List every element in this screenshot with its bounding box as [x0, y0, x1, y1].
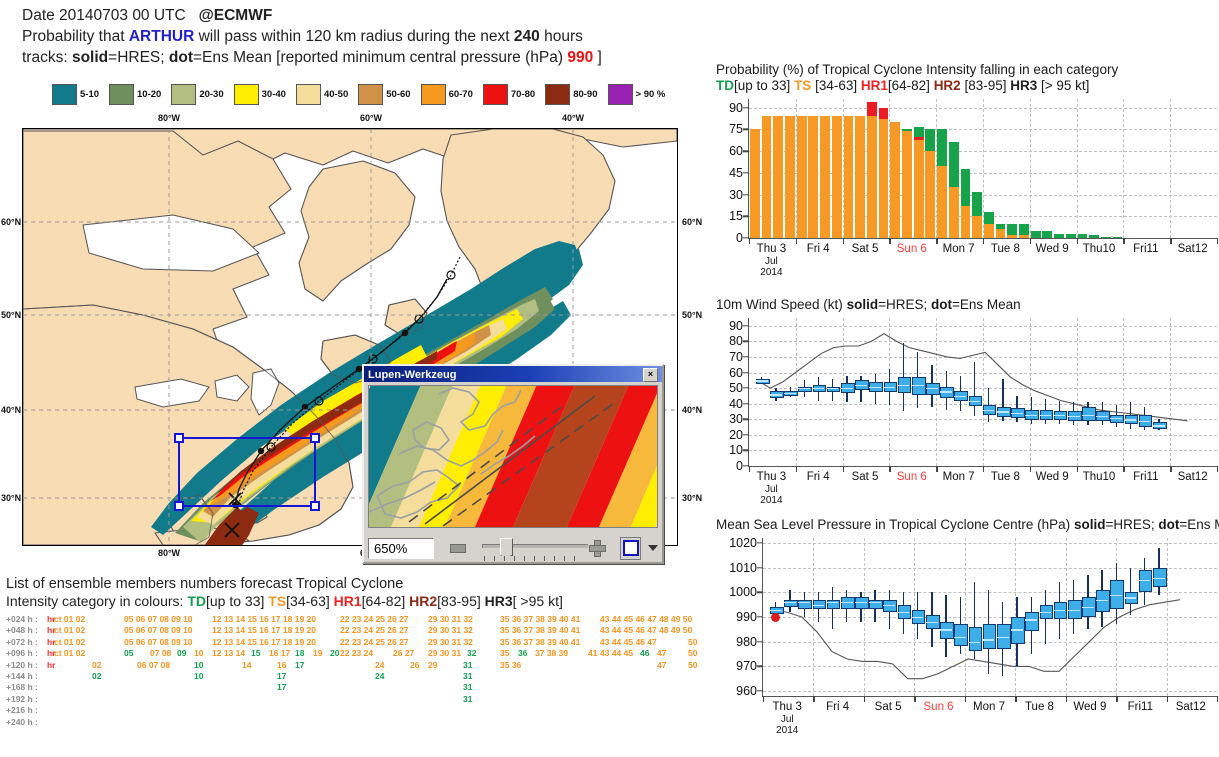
intensity-chart-title: Probability (%) of Tropical Cyclone Inte… — [716, 62, 1219, 77]
x-tick-label: Wed 9 — [1036, 243, 1069, 255]
boxplot-box — [827, 600, 841, 609]
map-lon-label-top: 60°W — [360, 113, 382, 123]
ensemble-row-label: +144 h : — [6, 671, 38, 682]
wind-title-a: 10m Wind Speed (kt) — [716, 297, 843, 312]
intensity-bar — [937, 99, 947, 238]
boxplot-median — [883, 605, 895, 606]
chart-legend-td: TD — [716, 78, 734, 93]
intensity-bar-segment-ts — [797, 116, 807, 238]
ensemble-member-numbers: 02 — [92, 671, 101, 682]
ensemble-row-label: +168 h : — [6, 682, 38, 693]
ensemble-member-numbers: 20 — [330, 648, 339, 659]
intensity-bar-segment-ts — [984, 224, 994, 238]
forecast-hours: 240 — [514, 28, 540, 45]
wind-title-solid: solid — [847, 297, 879, 312]
tracks-text-d: ] — [598, 49, 602, 66]
boxplot-median — [1096, 416, 1108, 417]
ensemble-member-numbers: 15 — [251, 648, 260, 659]
ensemble-member-numbers: ct 01 02 — [54, 637, 85, 648]
ensemble-member-numbers: 05 06 07 08 09 10 — [124, 625, 193, 636]
ensemble-row: +096 h :hrct 01 020507 08091012 13 14151… — [6, 648, 706, 659]
x-tick-label: Mon 7 — [943, 471, 975, 483]
intensity-bar-segment-ts — [773, 116, 783, 238]
intensity-bar — [797, 99, 807, 238]
intensity-bar-segment-ts — [1019, 235, 1029, 238]
boxplot-median — [1068, 416, 1080, 417]
zoom-slider-track — [482, 544, 588, 548]
colorbar-swatch — [421, 84, 446, 105]
ensemble-member-numbers: 43 44 45 46 47 — [600, 637, 657, 648]
ensemble-member-numbers: 35 36 — [500, 660, 521, 671]
mslp-chart-title: Mean Sea Level Pressure in Tropical Cycl… — [716, 517, 1219, 532]
boxplot-median — [756, 380, 768, 381]
ensemble-member-numbers: 07 08 — [150, 648, 171, 659]
ensemble-member-numbers: 26 27 — [393, 648, 414, 659]
y-tick-mark — [743, 216, 749, 217]
legend-hr1-range: [64-82] — [362, 593, 406, 609]
ensemble-member-numbers: 32 — [467, 648, 476, 659]
ensemble-row: +168 h :1731 — [6, 682, 706, 693]
map-top-axis: 80°W60°W40°W — [22, 112, 678, 128]
intensity-bar — [914, 99, 924, 238]
ensemble-member-numbers: 43 44 45 — [600, 648, 633, 659]
intensity-bar — [1007, 99, 1017, 238]
zoom-in-icon[interactable] — [589, 540, 604, 557]
ensemble-row: +120 h :hr0206 07 08101416172426293135 3… — [6, 660, 706, 671]
ensemble-member-numbers: 35 36 37 38 39 40 41 — [500, 637, 580, 648]
x-axis-year-label: 2014 — [760, 267, 782, 278]
x-tick-label: Mon 7 — [973, 701, 1005, 713]
map-lat-label-left: 50°N — [1, 310, 21, 320]
boxplot-median — [912, 617, 924, 618]
intensity-bar-segment-td — [1101, 237, 1111, 238]
boxplot-median — [1096, 600, 1108, 601]
ensemble-member-numbers: 50 — [688, 637, 697, 648]
mslp-title-solid: solid — [1074, 517, 1106, 532]
boxplot-median — [884, 387, 896, 388]
intensity-bar-segment-ts — [961, 206, 971, 238]
y-tick-mark — [743, 194, 749, 195]
boxplot-median — [813, 388, 825, 389]
intensity-bar-segment-td — [1007, 224, 1017, 236]
boxplot-median — [1025, 415, 1037, 416]
x-tick-label: Thu 3 — [773, 701, 802, 713]
ensemble-member-numbers: ct 01 02 — [54, 625, 85, 636]
ensemble-member-numbers: 29 30 31 32 — [428, 614, 473, 625]
chart-legend-hr3-range: [> 95 kt] — [1037, 78, 1089, 93]
intensity-bar-segment-ts — [925, 151, 935, 238]
ensemble-row: +048 h :hrct 01 0205 06 07 08 09 1012 13… — [6, 625, 706, 636]
x-tick-label: Tue 8 — [991, 243, 1020, 255]
intensity-bar — [890, 99, 900, 238]
ensemble-member-numbers: 41 — [588, 648, 597, 659]
ensemble-member-numbers: 47 — [657, 648, 666, 659]
ensemble-row: +240 h : — [6, 717, 706, 728]
chevron-down-icon[interactable] — [648, 545, 658, 551]
x-tick-label: Sun 6 — [924, 701, 954, 713]
header-line-tracks: tracks: solid=HRES; dot=Ens Mean [report… — [22, 47, 702, 68]
boxplot-median — [1125, 597, 1137, 598]
colorbar-swatch — [171, 84, 196, 105]
colorbar-label: > 90 % — [636, 89, 666, 100]
ensemble-member-numbers: 31 — [463, 694, 472, 705]
chart-legend-ts: TS — [794, 78, 811, 93]
intensity-bar-segment-ts — [914, 140, 924, 238]
intensity-bar — [949, 99, 959, 238]
map-lon-label-top: 80°W — [158, 113, 180, 123]
magnifier-svg — [369, 386, 658, 527]
chart-legend-td-range: [up to 33] — [734, 78, 790, 93]
ensemble-row-label: +072 h : — [6, 637, 38, 648]
ensemble-member-numbers: 05 — [124, 648, 133, 659]
header-line-probability: Probability that ARTHUR will pass within… — [22, 26, 702, 47]
y-tick-mark — [743, 172, 749, 173]
intensity-bar — [902, 99, 912, 238]
ensemble-member-numbers: 05 06 07 08 09 10 — [124, 637, 193, 648]
ensemble-row-label: +096 h : — [6, 648, 38, 659]
solid-key: solid — [72, 49, 108, 66]
ensemble-member-numbers: 31 — [463, 660, 472, 671]
intensity-bar-segment-td — [1054, 234, 1064, 238]
colorbar-label: 20-30 — [199, 89, 223, 100]
x-tick-label: Fri11 — [1133, 243, 1158, 255]
ensemble-member-numbers: 35 — [500, 648, 509, 659]
zoom-slider-thumb[interactable] — [500, 538, 513, 556]
boxplot-median — [784, 393, 796, 394]
chart-legend-hr3: HR3 — [1010, 78, 1037, 93]
intensity-bar-segment-ts — [879, 119, 889, 238]
ensemble-member-numbers: 37 38 39 — [535, 648, 568, 659]
ensemble-member-numbers: 16 — [277, 660, 286, 671]
magnifier-canvas — [368, 385, 658, 528]
prob-text-c: hours — [544, 28, 583, 45]
mslp-title-b: =HRES; — [1105, 517, 1154, 532]
boxplot-median — [954, 396, 966, 397]
ensemble-member-numbers: 16 17 — [269, 648, 290, 659]
close-icon[interactable]: × — [643, 368, 658, 382]
map-lat-label-left: 30°N — [1, 493, 21, 503]
x-tick-label: Sun 6 — [897, 471, 927, 483]
tracks-text-c: =Ens Mean [reported minimum central pres… — [193, 49, 563, 66]
ensemble-hres-marker: hr — [47, 660, 56, 671]
intensity-bar-segment-hr1 — [879, 108, 889, 120]
boxplot-median — [969, 401, 981, 402]
wind-title-dot: dot — [931, 297, 952, 312]
hres-line — [749, 318, 1217, 466]
colorbar-label: 30-40 — [262, 89, 286, 100]
x-tick-label: Sat 5 — [875, 701, 902, 713]
intensity-bar-segment-td — [1019, 224, 1029, 236]
mslp-plot-area: 960970980990100010101020 — [762, 538, 1217, 697]
map-lat-label-right: 60°N — [682, 217, 702, 227]
x-tick-label: Sat 5 — [852, 471, 879, 483]
intensity-bar — [808, 99, 818, 238]
boxplot-median — [841, 602, 853, 603]
chart-legend-hr1: HR1 — [861, 78, 888, 93]
map-lat-label-right: 30°N — [682, 493, 702, 503]
legend-hr3: HR3 — [485, 593, 513, 609]
intensity-bar-segment-td — [1078, 234, 1088, 238]
intensity-bar-segment-hr1 — [867, 102, 877, 116]
wind-plot-area: 0102030405060708090 — [748, 318, 1217, 467]
chart-legend-hr2: HR2 — [934, 78, 961, 93]
ensemble-member-numbers: 06 07 08 — [137, 660, 170, 671]
y-tick-mark — [743, 129, 749, 130]
boxplot-median — [1054, 610, 1066, 611]
tracks-label: tracks: — [22, 49, 68, 66]
x-tick-label: Thu10 — [1083, 471, 1116, 483]
intensity-bar-segment-td — [1113, 237, 1123, 238]
ensemble-list-title: List of ensemble members numbers forecas… — [6, 576, 706, 592]
map-lon-label-bottom: 80°W — [158, 548, 180, 558]
wind-x-axis-labels: Thu 3Fri 4Sat 5Sun 6Mon 7Tue 8Wed 9Thu10… — [748, 467, 1216, 501]
panel-wind-speed: 10m Wind Speed (kt) solid=HRES; dot=Ens … — [716, 297, 1219, 501]
magnifier-toolbar[interactable]: 650% — [368, 532, 658, 564]
intensity-bar-segment-ts — [785, 116, 795, 238]
ensemble-member-numbers: 29 30 31 32 — [428, 625, 473, 636]
boxplot-median — [983, 639, 995, 640]
intensity-bar — [773, 99, 783, 238]
x-tick-mark — [1217, 696, 1218, 702]
intensity-bar — [1078, 99, 1088, 238]
intensity-bar-segment-ts — [867, 116, 877, 238]
colorbar-swatch — [608, 84, 633, 105]
ensemble-member-numbers: 22 23 24 25 26 27 — [340, 614, 409, 625]
boxplot-median — [997, 637, 1009, 638]
header-block: Date 20140703 00 UTC @ECMWF Probability … — [22, 5, 702, 68]
colorbar-item: 70-80 — [483, 84, 535, 105]
ensemble-member-numbers: 43 44 45 46 47 48 49 50 — [600, 614, 692, 625]
y-tick-mark — [743, 150, 749, 151]
x-tick-label: Thu 3 — [757, 471, 786, 483]
ensemble-member-numbers: 26 — [410, 660, 419, 671]
boxplot-median — [855, 385, 867, 386]
ensemble-member-numbers: 46 — [640, 648, 649, 659]
intensity-bar-segment-ts — [750, 129, 760, 238]
boxplot-median — [1082, 415, 1094, 416]
boxplot-median — [1153, 578, 1165, 579]
boxplot-whisker — [974, 362, 975, 417]
intensity-bar-segment-ts — [890, 122, 900, 238]
x-tick-label: Fri 4 — [807, 243, 830, 255]
intensity-bar-segment-td — [984, 212, 994, 224]
zoom-level-input[interactable]: 650% — [368, 538, 434, 559]
colorbar-item: > 90 % — [608, 84, 666, 105]
ensemble-member-numbers: 12 13 14 15 16 17 18 19 20 — [212, 637, 316, 648]
boxplot-median — [1025, 619, 1037, 620]
intensity-bar-segment-ts — [762, 116, 772, 238]
map-lat-label-left: 60°N — [1, 217, 21, 227]
ensemble-member-numbers: 09 — [177, 648, 186, 659]
intensity-bar-segment-td — [925, 129, 935, 151]
boxplot-whisker — [1130, 568, 1131, 615]
colorbar-item: 5-10 — [52, 84, 99, 105]
ensemble-row-label: +024 h : — [6, 614, 38, 625]
panel-intensity-probability: Probability (%) of Tropical Cyclone Inte… — [716, 62, 1219, 273]
storm-name: ARTHUR — [129, 28, 194, 45]
ensemble-member-numbers: 50 — [688, 648, 697, 659]
ensemble-member-numbers: 12 13 14 15 16 17 18 19 20 — [212, 625, 316, 636]
x-tick-label: Sat12 — [1176, 701, 1206, 713]
legend-ts: TS — [268, 593, 286, 609]
ensemble-row: +144 h :0210172431 — [6, 671, 706, 682]
ensemble-row-label: +240 h : — [6, 717, 38, 728]
wind-title-b: =HRES; — [878, 297, 927, 312]
boxplot-box — [983, 624, 997, 648]
zoom-out-icon[interactable] — [450, 544, 466, 553]
colorbar-label: 40-50 — [324, 89, 348, 100]
intensity-bar-segment-ts — [937, 166, 947, 238]
intensity-bar — [785, 99, 795, 238]
header-line-date: Date 20140703 00 UTC @ECMWF — [22, 5, 702, 26]
boxplot-median — [1011, 629, 1023, 630]
intensity-bar-segment-ts — [855, 116, 865, 238]
colorbar-swatch — [483, 84, 508, 105]
x-tick-label: Wed 9 — [1036, 471, 1069, 483]
boxplot-median — [940, 391, 952, 392]
intensity-bar-segment-td — [937, 129, 947, 165]
boxplot-median — [1068, 610, 1080, 611]
ensemble-table: +024 h :hrct 01 0205 06 07 08 09 1012 13… — [6, 614, 706, 728]
ensemble-member-numbers: 10 — [194, 648, 203, 659]
map-lon-label-top: 40°W — [562, 113, 584, 123]
y-tick-mark — [743, 107, 749, 108]
x-tick-label: Fri11 — [1133, 471, 1158, 483]
boxplot-median — [1139, 421, 1151, 422]
ensemble-member-numbers: 10 — [194, 660, 203, 671]
colorbar-label: 5-10 — [80, 89, 99, 100]
intensity-bar-segment-ts — [972, 216, 982, 238]
x-gridline — [1123, 99, 1124, 238]
intensity-bar — [820, 99, 830, 238]
colorbar-label: 70-80 — [511, 89, 535, 100]
ensemble-member-numbers: ct 01 02 — [54, 614, 85, 625]
x-tick-label: Sat12 — [1178, 471, 1208, 483]
x-axis-month-label: Jul — [765, 484, 778, 495]
chart-legend-ts-range: [34-63] — [811, 78, 857, 93]
legend-hr2: HR2 — [409, 593, 437, 609]
boxplot-median — [869, 387, 881, 388]
boxplot-median — [813, 605, 825, 606]
ensemble-member-numbers: 02 — [92, 660, 101, 671]
ensemble-member-numbers: 14 — [242, 660, 251, 671]
colorbar-swatch — [545, 84, 570, 105]
legend-hr2-range: [83-95] — [437, 593, 481, 609]
ensemble-member-numbers: 17 — [277, 682, 286, 693]
intensity-bar-segment-td — [1066, 234, 1076, 238]
ensemble-member-numbers: 43 44 45 46 47 48 49 50 — [600, 625, 692, 636]
ensemble-member-numbers: 35 36 37 38 39 40 41 — [500, 614, 580, 625]
chart-legend-hr1-range: [64-82] — [888, 78, 930, 93]
boxplot-median — [926, 388, 938, 389]
colorbar-item: 20-30 — [171, 84, 223, 105]
boxplot-median — [855, 602, 867, 603]
ensemble-member-numbers: 18 — [295, 648, 304, 659]
zoom-slider[interactable] — [482, 537, 575, 559]
boxplot-median — [898, 385, 910, 386]
x-axis-month-label: Jul — [781, 714, 794, 725]
boxplot-median — [983, 410, 995, 411]
shape-select-button[interactable] — [620, 537, 641, 560]
boxplot-median — [827, 602, 839, 603]
magnifier-titlebar[interactable]: Lupen-Werkzeug × — [364, 366, 662, 382]
legend-hr1: HR1 — [334, 593, 362, 609]
intensity-bar — [844, 99, 854, 238]
prob-text-b: will pass within 120 km radius during th… — [199, 28, 510, 45]
x-tick-label: Thu10 — [1083, 243, 1116, 255]
x-tick-label: Tue 8 — [991, 471, 1020, 483]
ensemble-category-legend: Intensity category in colours: TD[up to … — [6, 593, 706, 609]
intensity-bar — [996, 99, 1006, 238]
boxplot-median — [1110, 595, 1122, 596]
ensemble-member-numbers: 05 06 07 08 09 10 — [124, 614, 193, 625]
x-tick-label: Sun 6 — [897, 243, 927, 255]
legend-ts-range: [34-63] — [286, 593, 330, 609]
intensity-bar — [855, 99, 865, 238]
ensemble-row: +024 h :hrct 01 0205 06 07 08 09 1012 13… — [6, 614, 706, 625]
intensity-bar — [984, 99, 994, 238]
ensemble-member-numbers: 24 — [375, 660, 384, 671]
intensity-chart-legend: TD[up to 33] TS [34-63] HR1[64-82] HR2 [… — [716, 78, 1219, 93]
boxplot-median — [912, 385, 924, 386]
intensity-bar-segment-ts — [808, 116, 818, 238]
intensity-bar — [1054, 99, 1064, 238]
x-tick-mark — [1217, 466, 1218, 472]
ensemble-member-numbers: 29 30 31 32 — [428, 637, 473, 648]
colorbar-label: 60-70 — [449, 89, 473, 100]
intensity-bar — [961, 99, 971, 238]
colorbar-item: 60-70 — [421, 84, 473, 105]
ecmwf-tag: @ECMWF — [199, 7, 273, 24]
map-lat-label-right: 50°N — [682, 310, 702, 320]
intensity-bar — [832, 99, 842, 238]
colorbar-item: 50-60 — [358, 84, 410, 105]
intensity-bar — [1066, 99, 1076, 238]
boxplot-median — [798, 602, 810, 603]
ensemble-member-numbers: ct 01 02 — [54, 648, 85, 659]
ensemble-legend-prefix: Intensity category in colours: — [6, 593, 183, 609]
prob-text-a: Probability that — [22, 28, 125, 45]
ensemble-member-numbers: 35 36 37 38 39 40 41 — [500, 625, 580, 636]
ensemble-member-numbers: 22 23 24 25 26 27 — [340, 637, 409, 648]
probability-colorbar-legend: 5-1010-2020-3030-4040-5050-6060-7070-808… — [52, 84, 675, 105]
x-tick-label: Fri11 — [1128, 701, 1153, 713]
intensity-bar — [1089, 99, 1099, 238]
dot-key: dot — [169, 49, 193, 66]
x-tick-mark — [1217, 238, 1218, 244]
colorbar-label: 50-60 — [386, 89, 410, 100]
boxplot-median — [969, 642, 981, 643]
magnifier-window[interactable]: Lupen-Werkzeug × — [362, 364, 664, 564]
mslp-title-c: =Ens Me — [1179, 517, 1219, 532]
ensemble-member-numbers: 22 23 24 25 26 27 — [340, 625, 409, 636]
x-tick-label: Thu 3 — [757, 243, 786, 255]
boxplot-median — [926, 622, 938, 623]
observed-pressure-marker — [771, 613, 780, 622]
boxplot-median — [770, 394, 782, 395]
ensemble-member-numbers: 29 30 31 — [428, 648, 461, 659]
boxplot-box — [869, 600, 883, 609]
ensemble-row: +216 h : — [6, 705, 706, 716]
colorbar-swatch — [296, 84, 321, 105]
map-lat-label-right: 40°N — [682, 405, 702, 415]
ensemble-member-numbers: 22 23 24 — [340, 648, 373, 659]
ensemble-member-numbers: 29 — [428, 660, 437, 671]
ensemble-member-numbers: 12 13 14 15 16 17 18 19 20 — [212, 614, 316, 625]
ensemble-member-numbers: 31 — [463, 671, 472, 682]
ensemble-member-list: List of ensemble members numbers forecas… — [6, 576, 706, 728]
boxplot-median — [841, 388, 853, 389]
